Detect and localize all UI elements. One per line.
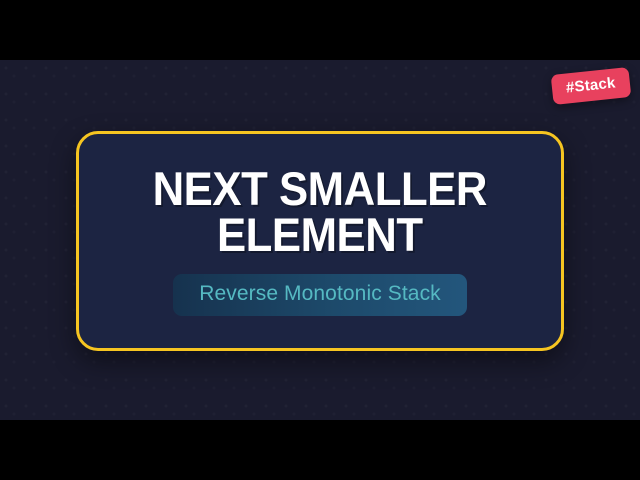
page-title-line-1: NEXT SMALLER	[153, 166, 487, 212]
video-frame: #Stack NEXT SMALLER ELEMENT Reverse Mono…	[0, 0, 640, 480]
stack-hashtag-badge: #Stack	[551, 67, 631, 105]
slide-stage: #Stack NEXT SMALLER ELEMENT Reverse Mono…	[0, 60, 640, 420]
subtitle-pill: Reverse Monotonic Stack	[173, 274, 467, 316]
title-card: NEXT SMALLER ELEMENT Reverse Monotonic S…	[76, 131, 564, 351]
page-title-line-2: ELEMENT	[153, 212, 487, 258]
page-title: NEXT SMALLER ELEMENT	[153, 166, 487, 258]
letterbox-bar-bottom	[0, 420, 640, 480]
letterbox-bar-top	[0, 0, 640, 60]
